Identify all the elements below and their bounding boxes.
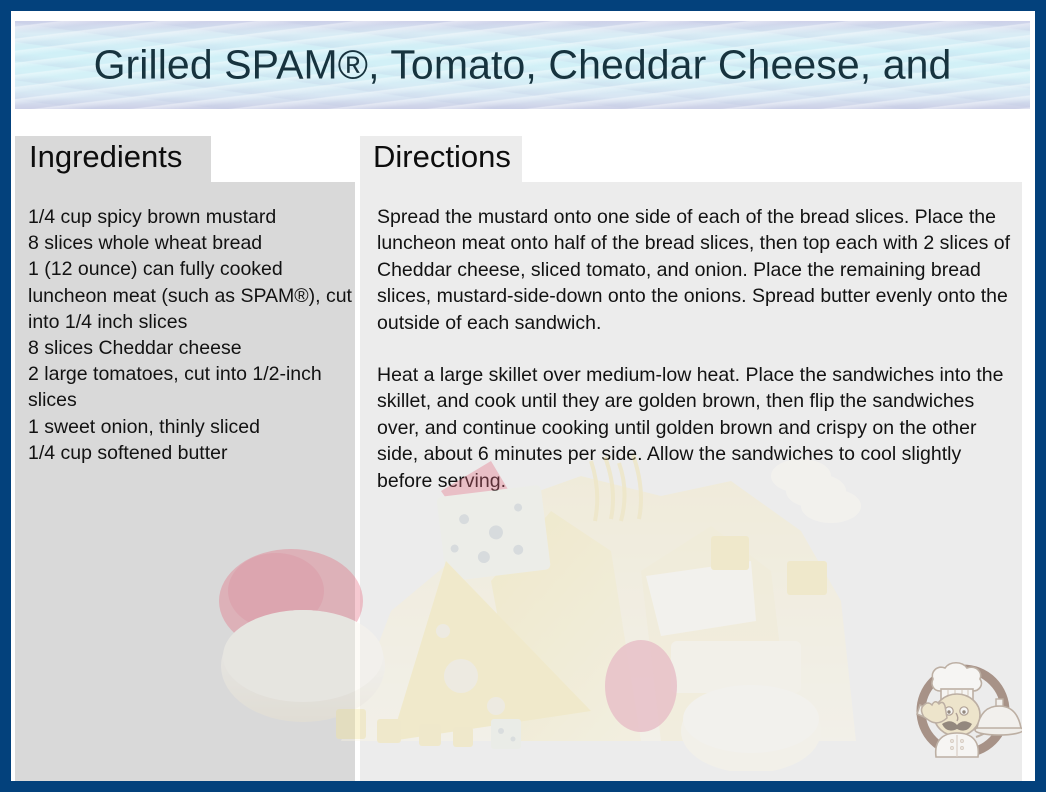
list-item: 1/4 cup softened butter	[28, 440, 358, 466]
directions-body: Spread the mustard onto one side of each…	[377, 204, 1014, 494]
ingredients-heading: Ingredients	[29, 139, 182, 175]
list-item: 8 slices whole wheat bread	[28, 230, 358, 256]
directions-paragraph: Heat a large skillet over medium-low hea…	[377, 362, 1014, 494]
ingredients-panel: 1/4 cup spicy brown mustard 8 slices who…	[15, 182, 355, 781]
directions-header-tab: Directions	[360, 136, 522, 182]
list-item: 8 slices Cheddar cheese	[28, 335, 358, 361]
chef-mascot-logo	[904, 645, 1022, 763]
list-item: 2 large tomatoes, cut into 1/2-inch slic…	[28, 361, 358, 413]
recipe-card-page: Grilled SPAM®, Tomato, Cheddar Cheese, a…	[0, 0, 1046, 792]
list-item: 1 sweet onion, thinly sliced	[28, 414, 358, 440]
list-item: 1 (12 ounce) can fully cooked luncheon m…	[28, 256, 358, 335]
card-canvas: Grilled SPAM®, Tomato, Cheddar Cheese, a…	[11, 11, 1035, 781]
list-item: 1/4 cup spicy brown mustard	[28, 204, 358, 230]
ingredients-header-tab: Ingredients	[15, 136, 211, 182]
title-banner: Grilled SPAM®, Tomato, Cheddar Cheese, a…	[15, 21, 1030, 109]
directions-paragraph: Spread the mustard onto one side of each…	[377, 204, 1014, 336]
ingredients-list: 1/4 cup spicy brown mustard 8 slices who…	[28, 204, 358, 466]
directions-heading: Directions	[373, 139, 511, 175]
page-title: Grilled SPAM®, Tomato, Cheddar Cheese, a…	[15, 42, 1030, 89]
